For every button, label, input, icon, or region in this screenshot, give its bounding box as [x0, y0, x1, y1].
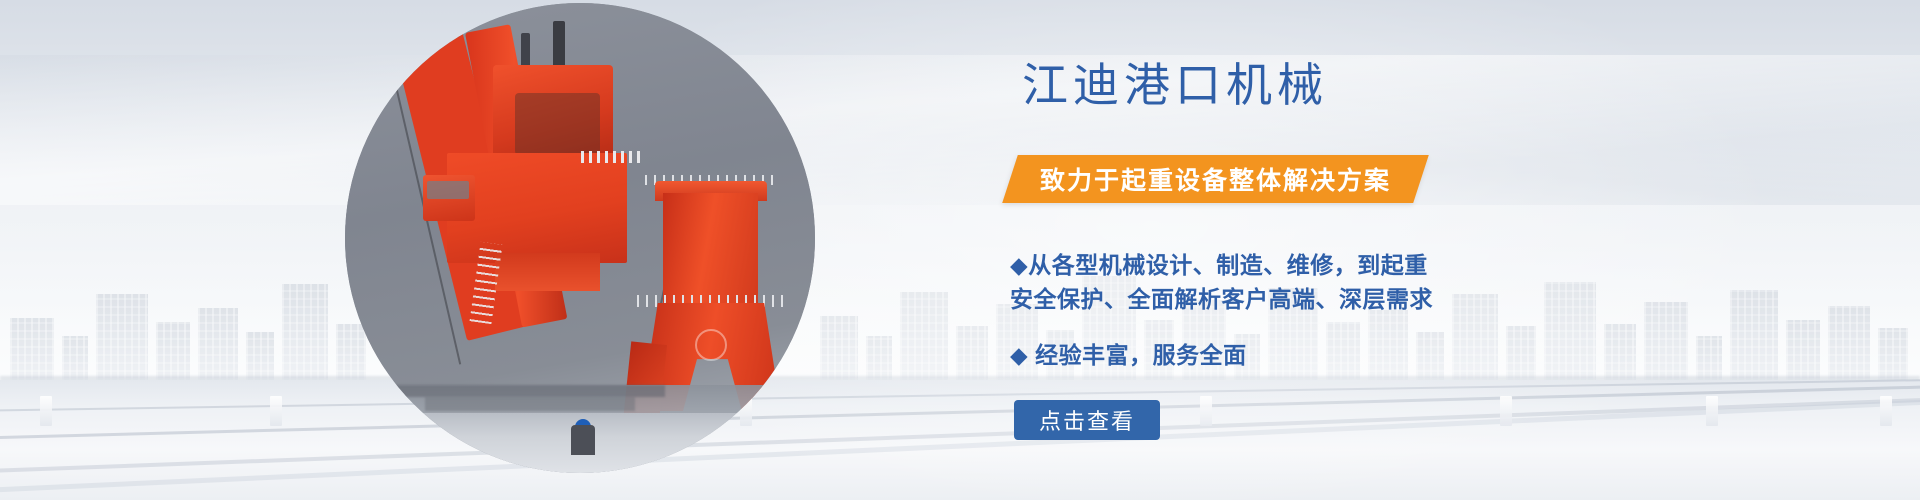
feature-line-2: 安全保护、全面解析客户高端、深层需求 [1010, 282, 1530, 316]
crane-photo-circle [345, 3, 815, 473]
hero-banner: 江迪港口机械 致力于起重设备整体解决方案 ◆从各型机械设计、制造、维修，到起重 … [0, 0, 1920, 500]
banner-content: 江迪港口机械 致力于起重设备整体解决方案 ◆从各型机械设计、制造、维修，到起重 … [1010, 0, 1770, 500]
crane-walkway-rail [581, 151, 641, 163]
photo-barge [425, 397, 635, 411]
worker-figure [571, 425, 595, 455]
photo-far-dock [365, 385, 665, 397]
view-details-button[interactable]: 点击查看 [1014, 400, 1160, 440]
tagline-ribbon: 致力于起重设备整体解决方案 [1002, 155, 1429, 203]
crane-cab-window [427, 181, 469, 199]
page-title: 江迪港口机械 [1022, 62, 1328, 108]
tagline-text: 致力于起重设备整体解决方案 [1040, 161, 1391, 197]
crane-head-shadow [515, 93, 600, 155]
feature-line-3: ◆ 经验丰富，服务全面 [1010, 338, 1530, 372]
feature-list: ◆从各型机械设计、制造、维修，到起重 安全保护、全面解析客户高端、深层需求 ◆ … [1010, 248, 1530, 372]
tower-crane-logo-icon [695, 329, 727, 361]
crane-house-skirt [495, 253, 600, 291]
feature-line-1: ◆从各型机械设计、制造、维修，到起重 [1010, 248, 1530, 282]
